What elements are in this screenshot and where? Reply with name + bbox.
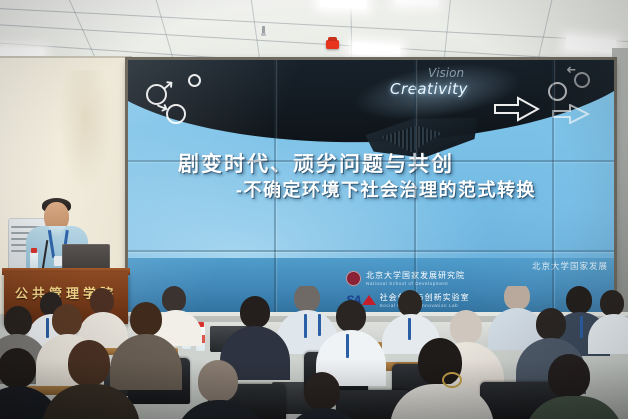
slide-right-watermark: 北京大学国家发展 [532, 260, 608, 272]
logo-nsd: 北京大学国家发展研究院 National School of Developme… [346, 270, 465, 286]
wall-ceiling-seam [0, 56, 132, 58]
university-seal-icon [346, 271, 361, 286]
circle-decor-icon [188, 74, 201, 87]
video-wall-bezel [274, 60, 276, 316]
video-wall-bezel [128, 250, 614, 252]
fire-alarm-icon [326, 40, 339, 49]
ceiling-light [352, 42, 401, 57]
video-wall-bezel [552, 60, 554, 316]
presentation-slide: ➜ ➜ Vision Creativity ➜ 剧变时代、顽劣问题与共创 -不确 [128, 60, 614, 316]
video-wall-bezel [128, 160, 614, 162]
right-wall-edge [612, 48, 628, 316]
wall-stain [58, 70, 112, 190]
arrow-decor-icon: ➜ [566, 64, 576, 76]
speaker-badge [54, 256, 62, 266]
audience-area [0, 286, 628, 419]
slide-word-vision: Vision [428, 66, 464, 80]
video-wall-bezel [414, 60, 416, 316]
hair-clip-icon [442, 372, 462, 388]
slide-title: 剧变时代、顽劣问题与共创 [178, 148, 578, 178]
small-arrow-decor-icon [552, 104, 590, 129]
slide-word-creativity: Creativity [390, 80, 468, 98]
sprinkler-head [262, 26, 265, 34]
slide-subtitle: -不确定环境下社会治理的范式转换 [236, 176, 614, 202]
ceiling-light [396, 0, 438, 5]
ceiling-light [566, 36, 617, 53]
circle-decor-icon [574, 72, 590, 88]
circle-decor-icon [548, 82, 567, 101]
ceiling-light [320, 0, 367, 9]
conference-room-photo: ➜ ➜ Vision Creativity ➜ 剧变时代、顽劣问题与共创 -不确 [0, 0, 628, 419]
video-wall-display[interactable]: ➜ ➜ Vision Creativity ➜ 剧变时代、顽劣问题与共创 -不确 [128, 60, 614, 316]
